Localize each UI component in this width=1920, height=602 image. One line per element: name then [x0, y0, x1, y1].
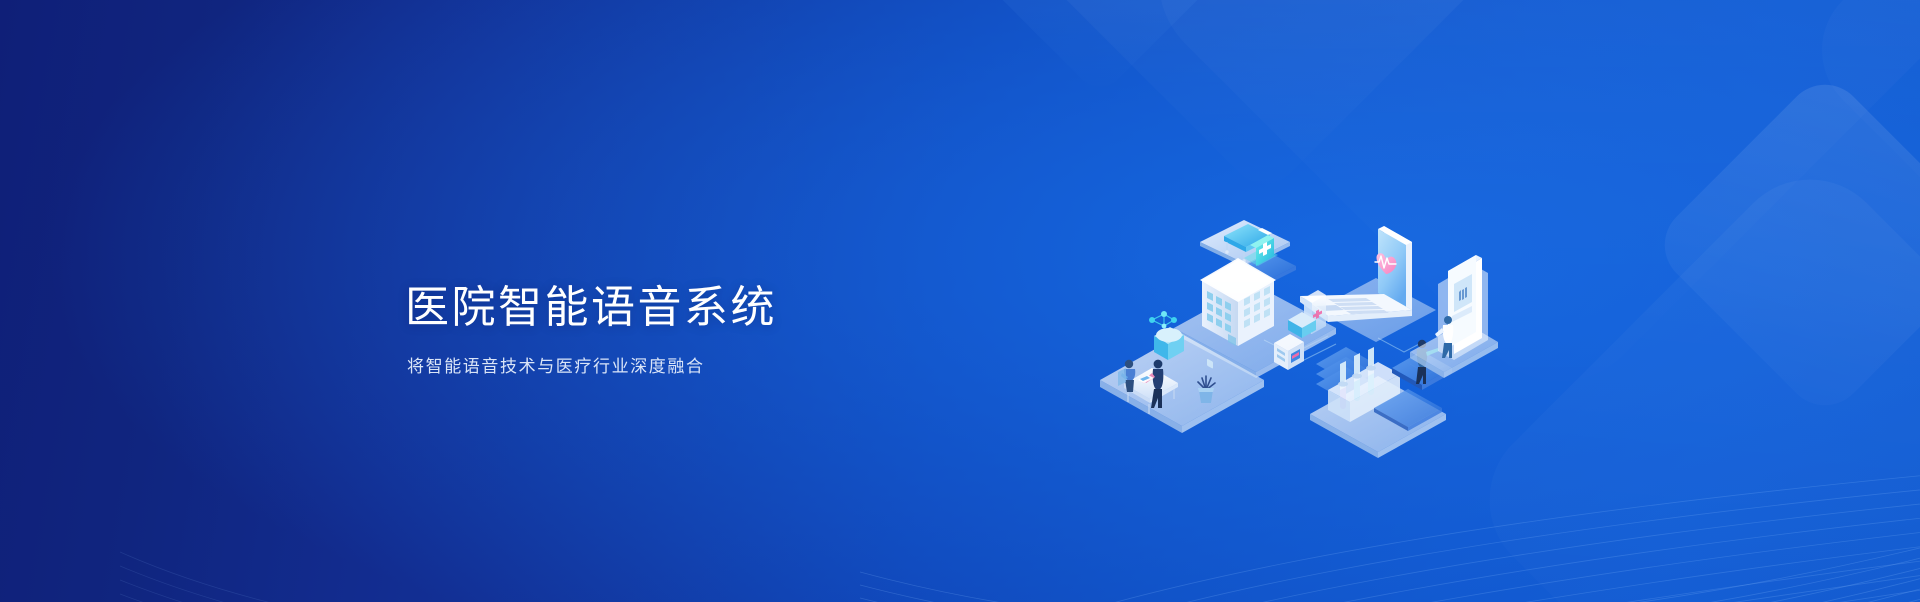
hero-banner: 医院智能语音系统 将智能语音技术与医疗行业深度融合: [0, 0, 1920, 602]
wave-mesh-left-icon: [120, 432, 900, 602]
hero-text-block: 医院智能语音系统 将智能语音技术与医疗行业深度融合: [405, 283, 965, 377]
decor-diamond-far-right-top: [1793, 0, 1920, 347]
isometric-medical-illustration: [1078, 168, 1498, 460]
page-subtitle: 将智能语音技术与医疗行业深度融合: [407, 352, 965, 377]
decor-diamond-right-lower: [1456, 146, 1920, 602]
page-title: 医院智能语音系统: [405, 283, 965, 332]
decor-diamond-small-top: [973, 0, 1228, 97]
network-node-icon: [1149, 311, 1177, 328]
decor-diamond-right-mid: [1648, 68, 1920, 422]
